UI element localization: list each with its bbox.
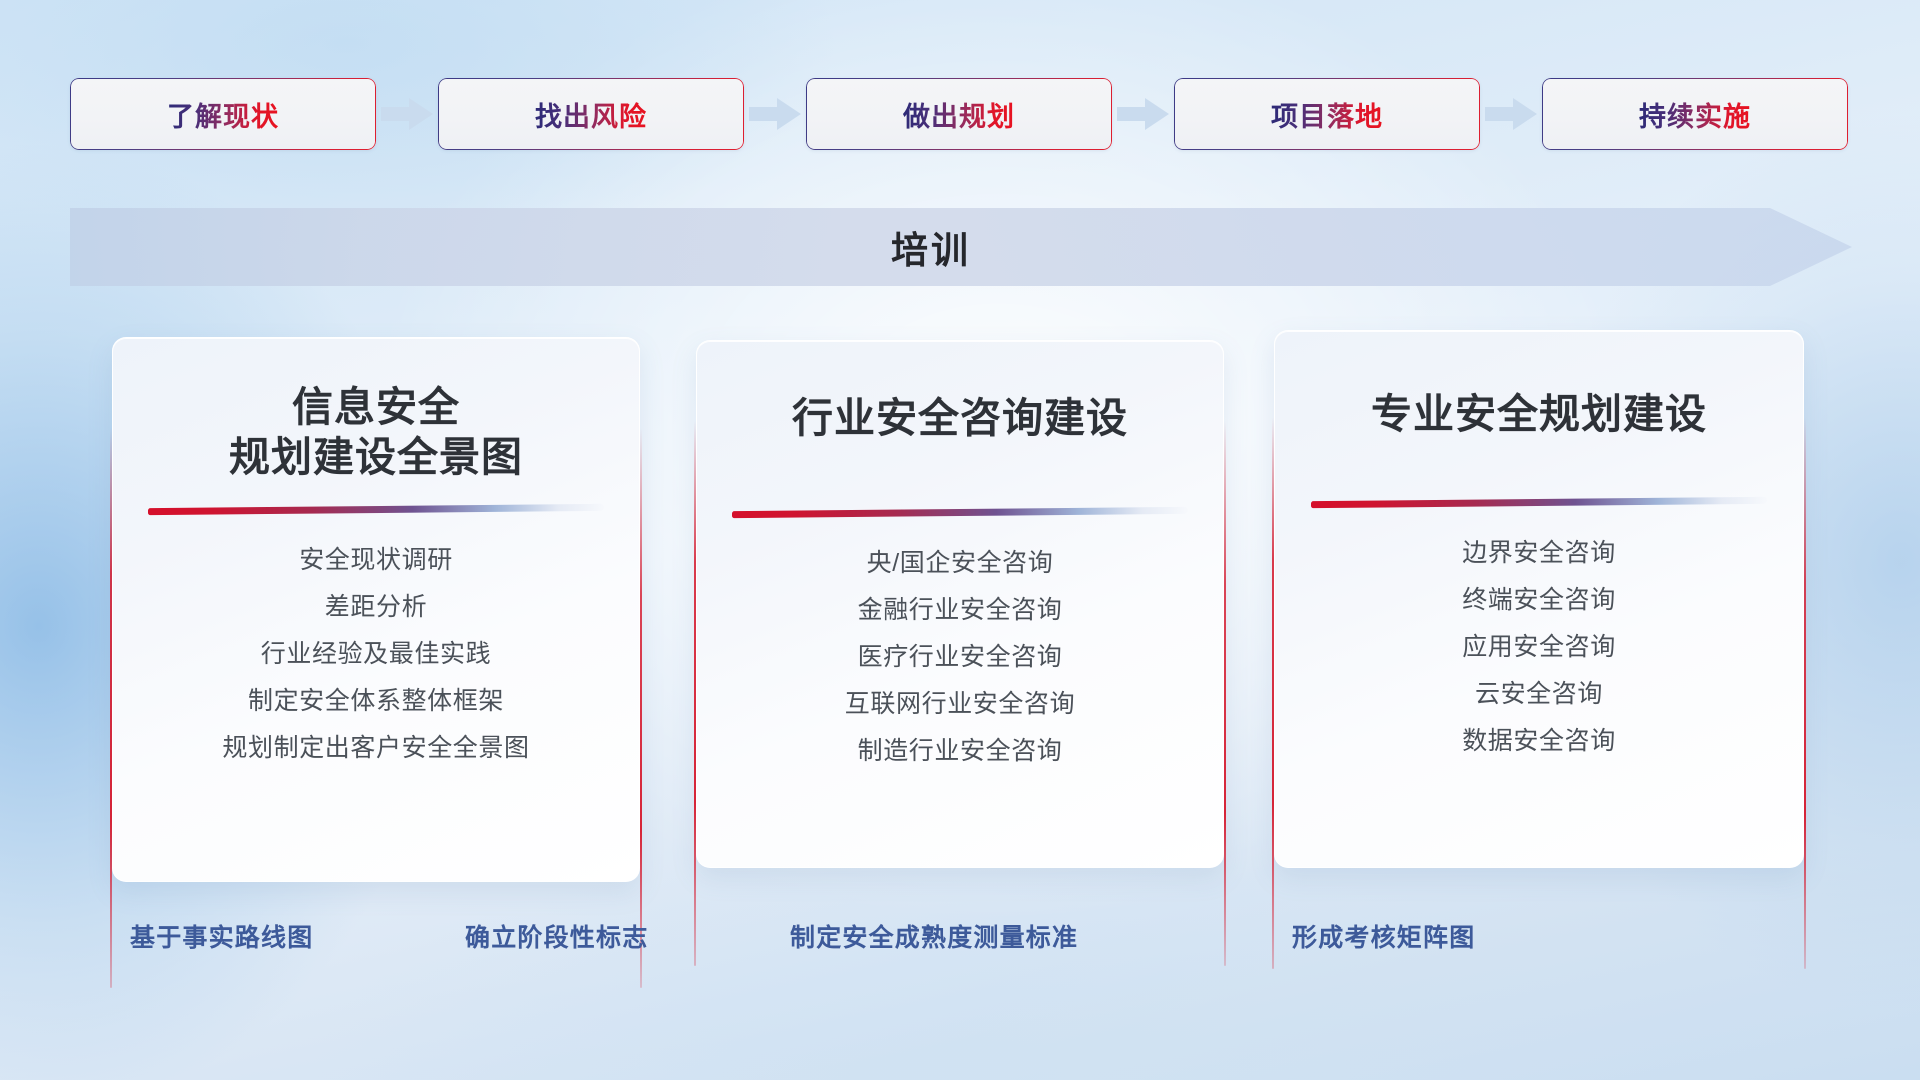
card-2-accent-right (1224, 421, 1226, 966)
card-3-list: 边界安全咨询 终端安全咨询 应用安全咨询 云安全咨询 数据安全咨询 (1462, 538, 1616, 756)
card-1-accent-left (110, 428, 112, 988)
banner-label: 培训 (70, 208, 1852, 286)
step-label-5: 持续实施 (1639, 95, 1751, 134)
step-arrow-icon-1 (376, 97, 438, 131)
step-arrow-icon-2 (744, 97, 806, 131)
card-2-divider (732, 507, 1188, 518)
step-label-1: 了解现状 (167, 95, 279, 134)
list-item: 制造行业安全咨询 (858, 736, 1063, 766)
caption-maturity: 制定安全成熟度测量标准 (790, 918, 1078, 954)
card-2-list: 央/国企安全咨询 金融行业安全咨询 医疗行业安全咨询 互联网行业安全咨询 制造行… (845, 548, 1075, 766)
list-item: 应用安全咨询 (1462, 632, 1616, 662)
list-item: 边界安全咨询 (1462, 538, 1616, 568)
step-arrow-icon-4 (1480, 97, 1542, 131)
list-item: 规划制定出客户安全全景图 (222, 733, 529, 763)
list-item: 安全现状调研 (299, 545, 453, 575)
card-3-title: 专业安全规划建设 (1371, 389, 1707, 439)
list-item: 终端安全咨询 (1462, 585, 1616, 615)
list-item: 金融行业安全咨询 (858, 595, 1063, 625)
process-steps-row: 了解现状 找出风险 做出规划 项目落地 (70, 78, 1852, 150)
list-item: 云安全咨询 (1475, 679, 1603, 709)
step-arrow-icon-3 (1112, 97, 1174, 131)
list-item: 央/国企安全咨询 (867, 548, 1054, 578)
card-3-accent-right (1804, 417, 1806, 969)
card-1-divider (148, 504, 604, 515)
caption-matrix: 形成考核矩阵图 (1292, 918, 1475, 954)
card-1-accent-right (640, 428, 642, 988)
step-label-2: 找出风险 (535, 95, 647, 134)
slide-canvas: 了解现状 找出风险 做出规划 项目落地 (0, 0, 1920, 1080)
card-1-title: 信息安全 规划建设全景图 (229, 382, 523, 482)
caption-roadmap: 基于事实路线图 (130, 918, 313, 954)
list-item: 制定安全体系整体框架 (248, 686, 504, 716)
card-2-title: 行业安全咨询建设 (792, 393, 1128, 443)
step-label-3: 做出规划 (903, 95, 1015, 134)
list-item: 数据安全咨询 (1462, 726, 1616, 756)
card-2-accent-left (694, 421, 696, 966)
caption-milestones: 确立阶段性标志 (465, 918, 648, 954)
card-1-list: 安全现状调研 差距分析 行业经验及最佳实践 制定安全体系整体框架 规划制定出客户… (222, 545, 529, 763)
card-industry-consulting[interactable]: 行业安全咨询建设 央/国企安全咨询 金融行业安全咨询 医疗行业安全咨询 互联网行… (696, 340, 1224, 868)
step-label-4: 项目落地 (1271, 95, 1383, 134)
training-banner: 培训 (70, 208, 1852, 286)
card-professional-planning[interactable]: 专业安全规划建设 边界安全咨询 终端安全咨询 应用安全咨询 云安全咨询 数据安全… (1274, 330, 1804, 868)
card-security-panorama[interactable]: 信息安全 规划建设全景图 安全现状调研 差距分析 行业经验及最佳实践 制定安全体… (112, 337, 640, 882)
card-3-divider (1311, 497, 1767, 508)
list-item: 差距分析 (325, 592, 427, 622)
step-box-1[interactable]: 了解现状 (70, 78, 376, 150)
card-3-accent-left (1272, 417, 1274, 969)
list-item: 互联网行业安全咨询 (845, 689, 1075, 719)
step-box-5[interactable]: 持续实施 (1542, 78, 1848, 150)
step-box-3[interactable]: 做出规划 (806, 78, 1112, 150)
list-item: 行业经验及最佳实践 (261, 639, 491, 669)
step-box-2[interactable]: 找出风险 (438, 78, 744, 150)
list-item: 医疗行业安全咨询 (858, 642, 1063, 672)
step-box-4[interactable]: 项目落地 (1174, 78, 1480, 150)
